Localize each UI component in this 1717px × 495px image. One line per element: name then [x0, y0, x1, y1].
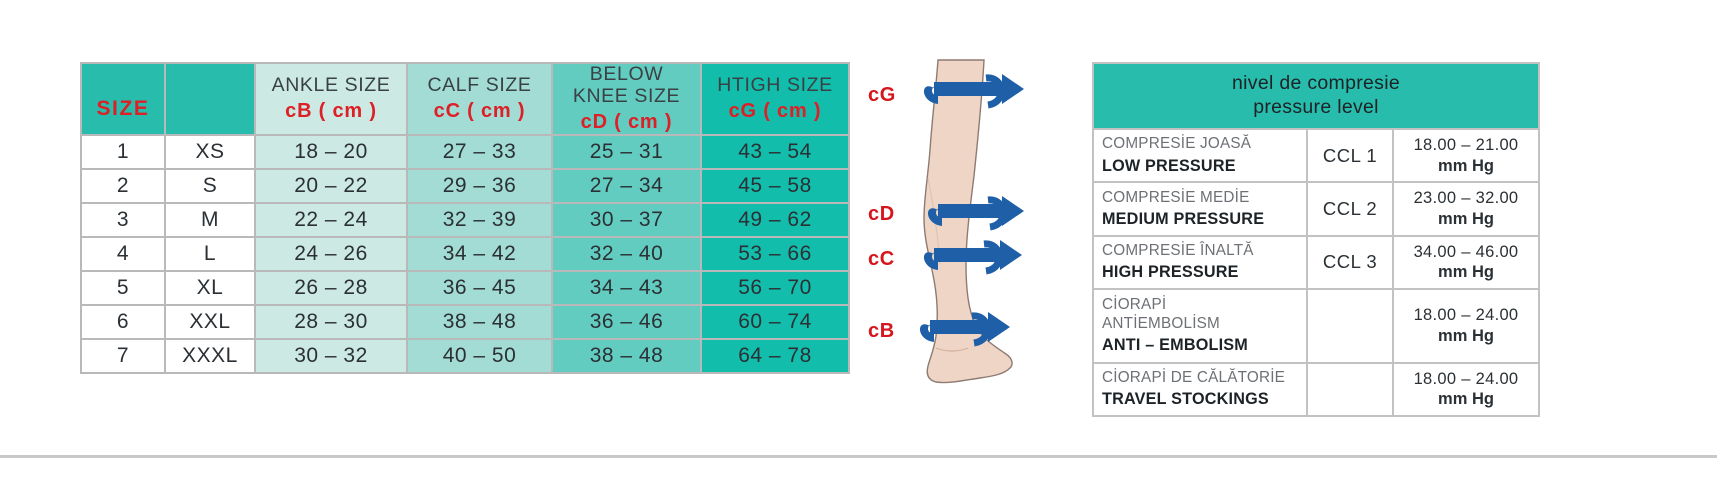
cell-below-knee: 38 – 48: [553, 340, 700, 372]
cell-thigh: 53 – 66: [702, 238, 848, 270]
cell-calf: 29 – 36: [408, 170, 551, 202]
pressure-value-unit: mm Hg: [1402, 156, 1530, 177]
cell-size-letter: XL: [166, 272, 254, 304]
cell-calf: 32 – 39: [408, 204, 551, 236]
table-row: 3 M 22 – 24 32 – 39 30 – 37 49 – 62: [82, 204, 848, 236]
cell-ankle: 20 – 22: [256, 170, 406, 202]
pressure-desc-ro: COMPRESİE ÎNALTĂ: [1102, 242, 1298, 260]
pressure-value-unit: mm Hg: [1402, 326, 1530, 347]
pressure-value-cell: 18.00 – 24.00 mm Hg: [1394, 364, 1538, 415]
header-calf-title: CALF SIZE: [408, 75, 551, 97]
header-calf-code: cC ( cm ): [408, 99, 551, 123]
cell-calf: 27 – 33: [408, 136, 551, 168]
size-table-header-row: SIZE ANKLE SIZE cB ( cm ) CALF SIZE cC (…: [82, 64, 848, 134]
pressure-level-table: nivel de compresie pressure level COMPRE…: [1092, 62, 1540, 417]
cell-thigh: 56 – 70: [702, 272, 848, 304]
pressure-value-unit: mm Hg: [1402, 389, 1530, 410]
cell-thigh: 43 – 54: [702, 136, 848, 168]
leg-label-below-knee: cD: [868, 203, 895, 226]
size-chart-canvas: SIZE ANKLE SIZE cB ( cm ) CALF SIZE cC (…: [0, 0, 1717, 495]
pressure-desc-en: TRAVEL STOCKINGS: [1102, 389, 1298, 409]
pressure-value-cell: 34.00 – 46.00 mm Hg: [1394, 237, 1538, 288]
header-size-cell: SIZE: [82, 64, 164, 134]
leg-label-ankle: cB: [868, 320, 895, 343]
pressure-row: CİORAPİANTİEMBOLİSM ANTI – EMBOLISM 18.0…: [1094, 290, 1538, 362]
cell-size-letter: M: [166, 204, 254, 236]
cell-thigh: 49 – 62: [702, 204, 848, 236]
table-row: 7 XXXL 30 – 32 40 – 50 38 – 48 64 – 78: [82, 340, 848, 372]
pressure-desc-ro: COMPRESİE MEDİE: [1102, 189, 1298, 207]
cell-size-number: 5: [82, 272, 164, 304]
pressure-desc-cell: COMPRESİE JOASĂ LOW PRESSURE: [1094, 130, 1306, 181]
table-row: 4 L 24 – 26 34 – 42 32 – 40 53 – 66: [82, 238, 848, 270]
pressure-class-cell: CCL 3: [1308, 237, 1392, 288]
header-thigh-code: cG ( cm ): [702, 99, 848, 123]
pressure-desc-cell: CİORAPİ DE CĂLĂTORİE TRAVEL STOCKINGS: [1094, 364, 1306, 415]
table-row: 5 XL 26 – 28 36 – 45 34 – 43 56 – 70: [82, 272, 848, 304]
cell-below-knee: 27 – 34: [553, 170, 700, 202]
pressure-value-range: 23.00 – 32.00: [1402, 188, 1530, 209]
cell-size-number: 7: [82, 340, 164, 372]
pressure-desc-en: HIGH PRESSURE: [1102, 262, 1298, 282]
cell-thigh: 60 – 74: [702, 306, 848, 338]
pressure-value-unit: mm Hg: [1402, 209, 1530, 230]
cell-below-knee: 32 – 40: [553, 238, 700, 270]
cell-ankle: 30 – 32: [256, 340, 406, 372]
cell-calf: 36 – 45: [408, 272, 551, 304]
pressure-desc-ro: CİORAPİ DE CĂLĂTORİE: [1102, 369, 1298, 387]
pressure-class-cell: [1308, 290, 1392, 362]
cell-size-letter: S: [166, 170, 254, 202]
pressure-value-range: 18.00 – 21.00: [1402, 135, 1530, 156]
pressure-row: COMPRESİE MEDİE MEDIUM PRESSURE CCL 2 23…: [1094, 183, 1538, 234]
cell-thigh: 45 – 58: [702, 170, 848, 202]
pressure-desc-cell: CİORAPİANTİEMBOLİSM ANTI – EMBOLISM: [1094, 290, 1306, 362]
cell-ankle: 22 – 24: [256, 204, 406, 236]
header-ankle-cell: ANKLE SIZE cB ( cm ): [256, 64, 406, 134]
header-below-knee-title-2: KNEE SIZE: [553, 86, 700, 108]
bottom-whitespace: [0, 458, 1717, 495]
cell-size-number: 1: [82, 136, 164, 168]
pressure-value-range: 34.00 – 46.00: [1402, 242, 1530, 263]
pressure-header-row: nivel de compresie pressure level: [1094, 64, 1538, 128]
pressure-desc-ro: CİORAPİANTİEMBOLİSM: [1102, 296, 1298, 333]
pressure-row: CİORAPİ DE CĂLĂTORİE TRAVEL STOCKINGS 18…: [1094, 364, 1538, 415]
pressure-value-cell: 18.00 – 24.00 mm Hg: [1394, 290, 1538, 362]
cell-calf: 34 – 42: [408, 238, 551, 270]
header-ankle-code: cB ( cm ): [256, 99, 406, 123]
header-thigh-cell: HTIGH SIZE cG ( cm ): [702, 64, 848, 134]
pressure-class-cell: CCL 2: [1308, 183, 1392, 234]
pressure-value-cell: 18.00 – 21.00 mm Hg: [1394, 130, 1538, 181]
cell-size-number: 2: [82, 170, 164, 202]
header-below-knee-title-1: BELOW: [553, 64, 700, 86]
pressure-desc-en: LOW PRESSURE: [1102, 156, 1298, 176]
pressure-header-ro: nivel de compresie: [1100, 72, 1532, 96]
pressure-class-cell: CCL 1: [1308, 130, 1392, 181]
table-row: 2 S 20 – 22 29 – 36 27 – 34 45 – 58: [82, 170, 848, 202]
cell-below-knee: 30 – 37: [553, 204, 700, 236]
table-row: 6 XXL 28 – 30 38 – 48 36 – 46 60 – 74: [82, 306, 848, 338]
size-table: SIZE ANKLE SIZE cB ( cm ) CALF SIZE cC (…: [80, 62, 850, 374]
cell-size-letter: XXL: [166, 306, 254, 338]
cell-size-number: 6: [82, 306, 164, 338]
cell-size-letter: L: [166, 238, 254, 270]
pressure-desc-ro: COMPRESİE JOASĂ: [1102, 135, 1298, 153]
cell-size-number: 4: [82, 238, 164, 270]
header-size-label: SIZE: [82, 96, 164, 121]
pressure-value-cell: 23.00 – 32.00 mm Hg: [1394, 183, 1538, 234]
cell-below-knee: 25 – 31: [553, 136, 700, 168]
table-row: 1 XS 18 – 20 27 – 33 25 – 31 43 – 54: [82, 136, 848, 168]
cell-ankle: 24 – 26: [256, 238, 406, 270]
leg-label-thigh: cG: [868, 84, 896, 107]
cell-below-knee: 34 – 43: [553, 272, 700, 304]
leg-measurement-diagram: cG cD cC cB: [862, 58, 1082, 398]
pressure-row: COMPRESİE JOASĂ LOW PRESSURE CCL 1 18.00…: [1094, 130, 1538, 181]
cell-thigh: 64 – 78: [702, 340, 848, 372]
cell-ankle: 26 – 28: [256, 272, 406, 304]
header-calf-cell: CALF SIZE cC ( cm ): [408, 64, 551, 134]
pressure-desc-cell: COMPRESİE MEDİE MEDIUM PRESSURE: [1094, 183, 1306, 234]
cell-size-letter: XXXL: [166, 340, 254, 372]
cell-size-letter: XS: [166, 136, 254, 168]
header-ankle-title: ANKLE SIZE: [256, 75, 406, 97]
pressure-desc-en: ANTI – EMBOLISM: [1102, 335, 1298, 355]
cell-calf: 40 – 50: [408, 340, 551, 372]
pressure-value-range: 18.00 – 24.00: [1402, 305, 1530, 326]
cell-size-number: 3: [82, 204, 164, 236]
pressure-header-en: pressure level: [1100, 96, 1532, 120]
pressure-class-cell: [1308, 364, 1392, 415]
leg-label-calf: cC: [868, 248, 895, 271]
header-thigh-title: HTIGH SIZE: [702, 75, 848, 97]
pressure-desc-cell: COMPRESİE ÎNALTĂ HIGH PRESSURE: [1094, 237, 1306, 288]
pressure-row: COMPRESİE ÎNALTĂ HIGH PRESSURE CCL 3 34.…: [1094, 237, 1538, 288]
pressure-desc-en: MEDIUM PRESSURE: [1102, 209, 1298, 229]
pressure-value-unit: mm Hg: [1402, 262, 1530, 283]
header-below-knee-cell: BELOW KNEE SIZE cD ( cm ): [553, 64, 700, 134]
cell-ankle: 18 – 20: [256, 136, 406, 168]
cell-below-knee: 36 – 46: [553, 306, 700, 338]
header-below-knee-code: cD ( cm ): [553, 110, 700, 134]
pressure-header-cell: nivel de compresie pressure level: [1094, 64, 1538, 128]
cell-calf: 38 – 48: [408, 306, 551, 338]
cell-ankle: 28 – 30: [256, 306, 406, 338]
pressure-value-range: 18.00 – 24.00: [1402, 369, 1530, 390]
header-size-letter-cell: [166, 64, 254, 134]
leg-illustration-svg: [862, 58, 1082, 398]
